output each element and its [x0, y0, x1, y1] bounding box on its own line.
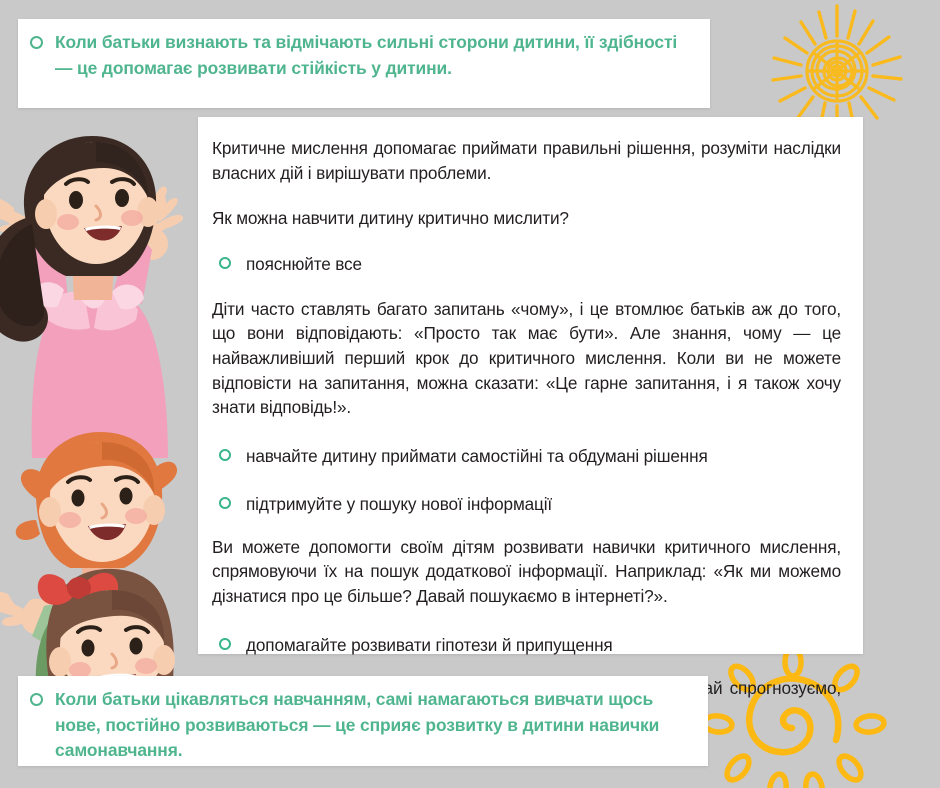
list-item-3: підтримуйте у пошуку нової інформації: [212, 492, 841, 516]
question-line: Як можна навчити дитину критично мислити…: [212, 206, 841, 231]
list-item-3-paragraph: Ви можете допомогти своїм дітям розвиват…: [212, 535, 841, 609]
list-item-2: навчайте дитину приймати самостійні та о…: [212, 444, 841, 468]
circle-outline-icon: [219, 449, 231, 461]
list-item-1-heading: пояснюйте все: [246, 252, 362, 276]
top-highlight-text: Коли батьки визнають та відмічають сильн…: [55, 30, 694, 81]
main-content-panel: Критичне мислення допомагає приймати пра…: [198, 117, 863, 654]
list-item-2-heading: навчайте дитину приймати самостійні та о…: [246, 444, 708, 468]
bottom-highlight-text: Коли батьки цікавляться навчанням, самі …: [55, 687, 692, 764]
list-item-4-heading: допомагайте розвивати гіпотези й припуще…: [246, 633, 613, 657]
page-canvas: Коли батьки визнають та відмічають сильн…: [0, 0, 940, 788]
top-highlight-row: Коли батьки визнають та відмічають сильн…: [18, 19, 710, 81]
intro-paragraph: Критичне мислення допомагає приймати пра…: [212, 136, 841, 185]
circle-outline-icon: [30, 693, 43, 706]
children-illustration: [0, 128, 207, 688]
circle-outline-icon: [219, 638, 231, 650]
circle-outline-icon: [219, 257, 231, 269]
list-item-4: допомагайте розвивати гіпотези й припуще…: [212, 633, 841, 657]
circle-outline-icon: [30, 36, 43, 49]
list-item-1: пояснюйте все: [212, 252, 841, 276]
bottom-highlight-panel: Коли батьки цікавляться навчанням, самі …: [18, 676, 708, 766]
circle-outline-icon: [219, 497, 231, 509]
bottom-highlight-row: Коли батьки цікавляться навчанням, самі …: [18, 676, 708, 764]
top-highlight-panel: Коли батьки визнають та відмічають сильн…: [18, 19, 710, 108]
list-item-1-paragraph: Діти часто ставлять багато запитань «чом…: [212, 297, 841, 420]
list-item-3-heading: підтримуйте у пошуку нової інформації: [246, 492, 552, 516]
